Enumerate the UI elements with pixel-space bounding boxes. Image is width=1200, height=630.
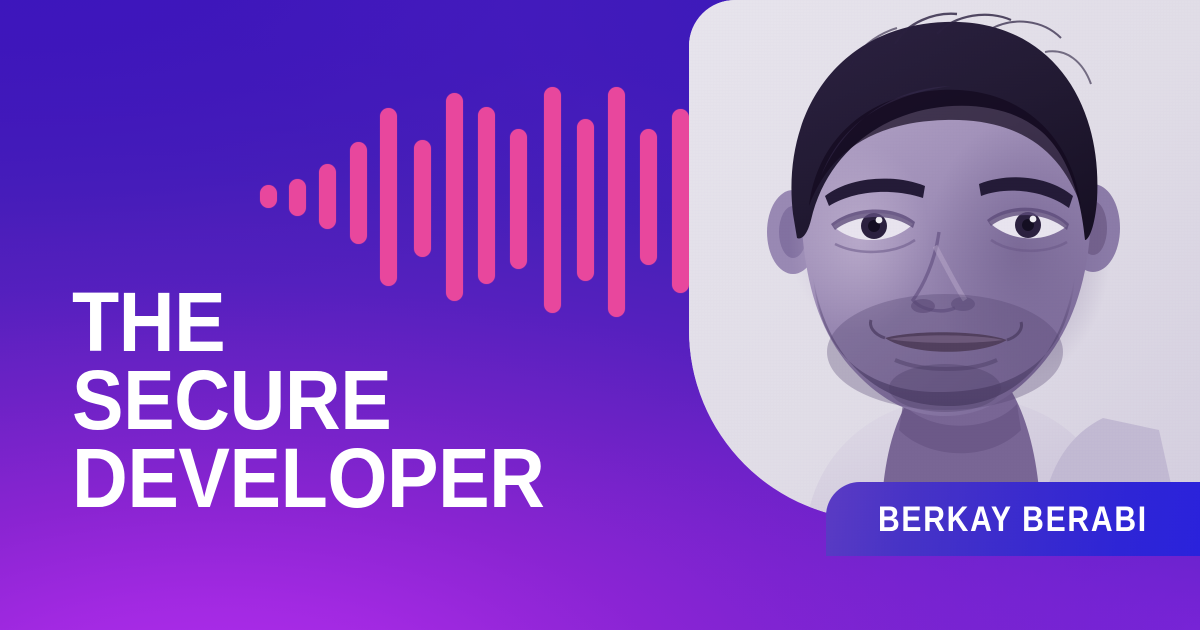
guest-photo-panel (689, 0, 1200, 520)
portrait-illustration (689, 0, 1200, 520)
guest-name-label: BERKAY BERABI (878, 500, 1148, 540)
guest-portrait (689, 0, 1200, 520)
title-line-1: THE (72, 283, 587, 361)
title-line-3: DEVELOPER (72, 439, 587, 517)
page-title: THE SECURE DEVELOPER (72, 283, 632, 517)
guest-name-badge: BERKAY BERABI (826, 482, 1200, 556)
title-line-2: SECURE (72, 361, 587, 439)
episode-cover-poster: THE SECURE DEVELOPER BERKAY BERABI (0, 0, 1200, 630)
